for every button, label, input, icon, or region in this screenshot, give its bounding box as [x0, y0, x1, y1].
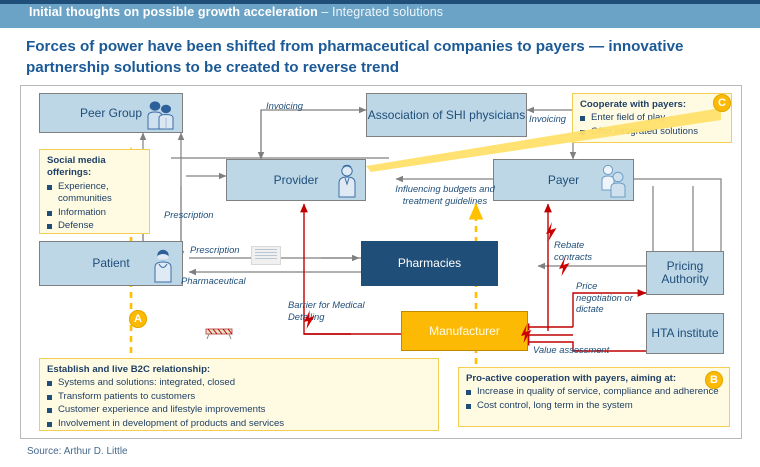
edge-label-price-negotiation: Price negotiation or dictate — [576, 280, 641, 315]
list-item: Increase in quality of service, complian… — [466, 386, 722, 398]
node-pricing-authority[interactable]: Pricing Authority — [646, 251, 724, 295]
edge-label-value-assessment: Value assessment — [533, 344, 609, 356]
node-association-label: Association of SHI physicians — [368, 109, 525, 122]
list-item: Cost control, long term in the system — [466, 400, 722, 412]
list-item: Offer integrated solutions — [580, 126, 724, 138]
list-item: Defense — [47, 220, 142, 232]
callout-social-media-title: Social media offerings: — [47, 155, 142, 180]
callout-proactive-title: Pro-active cooperation with payers, aimi… — [466, 373, 722, 385]
node-provider-label: Provider — [274, 174, 319, 187]
callout-proactive-cooperation[interactable]: Pro-active cooperation with payers, aimi… — [458, 367, 730, 427]
edge-label-prescription-left: Prescription — [164, 209, 214, 221]
header-band: Initial thoughts on possible growth acce… — [0, 0, 760, 28]
header-title: Initial thoughts on possible growth acce… — [29, 5, 443, 19]
list-item: Involvement in development of products a… — [47, 418, 431, 430]
list-item: Transform patients to customers — [47, 391, 431, 403]
doctor-icon — [335, 164, 359, 198]
people-group-icon — [142, 100, 176, 130]
node-hta-institute-label: HTA institute — [651, 327, 718, 340]
node-patient[interactable]: Patient — [39, 241, 183, 286]
list-item: Experience, communities — [47, 181, 142, 206]
list-item: Systems and solutions: integrated, close… — [47, 377, 431, 389]
header-navy-strip — [0, 0, 760, 4]
prescription-paper-icon — [251, 246, 281, 265]
callout-proactive-list: Increase in quality of service, complian… — [466, 386, 722, 412]
badge-c: C — [713, 94, 731, 112]
node-hta-institute[interactable]: HTA institute — [646, 313, 724, 354]
list-item: Customer experience and lifestyle improv… — [47, 404, 431, 416]
node-peer-group-label: Peer Group — [80, 107, 142, 120]
callout-b2c-relationship[interactable]: Establish and live B2C relationship: Sys… — [39, 358, 439, 431]
node-pharmacies-label: Pharmacies — [398, 257, 461, 270]
node-patient-label: Patient — [92, 257, 129, 270]
node-peer-group[interactable]: Peer Group — [39, 93, 183, 133]
node-provider[interactable]: Provider — [226, 159, 366, 201]
node-pharmacies[interactable]: Pharmacies — [361, 241, 498, 286]
node-payer[interactable]: Payer — [493, 159, 634, 201]
edge-label-pharmaceutical: Pharmaceutical — [181, 275, 246, 287]
list-item: Enter field of play — [580, 112, 724, 124]
source-note: Source: Arthur D. Little — [27, 446, 128, 457]
node-manufacturer-label: Manufacturer — [429, 325, 500, 338]
callout-cooperate-with-payers[interactable]: Cooperate with payers: Enter field of pl… — [572, 93, 732, 143]
diagram-frame: Peer Group Association of SHI physicians… — [20, 85, 742, 439]
edge-label-invoicing-left: Invoicing — [266, 100, 303, 112]
page-title: Forces of power have been shifted from p… — [26, 36, 732, 78]
edge-label-rebate: Rebate contracts — [554, 239, 614, 262]
two-persons-icon — [597, 164, 627, 198]
node-association-shi-physicians[interactable]: Association of SHI physicians — [366, 93, 527, 137]
edge-label-invoicing-right: Invoicing — [529, 113, 566, 125]
header-title-bold: Initial thoughts on possible growth acce… — [29, 5, 318, 19]
callout-b2c-list: Systems and solutions: integrated, close… — [47, 377, 431, 430]
person-icon — [150, 247, 176, 283]
badge-b: B — [705, 371, 723, 389]
header-title-rest: – Integrated solutions — [318, 5, 443, 19]
callout-social-media[interactable]: Social media offerings: Experience, comm… — [39, 149, 150, 234]
list-item: Information — [47, 207, 142, 219]
edge-label-barrier: Barrier for Medical Detailing — [288, 299, 378, 322]
node-payer-label: Payer — [548, 174, 579, 187]
callout-cooperate-title: Cooperate with payers: — [580, 99, 724, 111]
edge-label-influencing: Influencing budgets and treatment guidel… — [384, 183, 506, 206]
badge-a: A — [129, 310, 147, 328]
callout-cooperate-list: Enter field of play Offer integrated sol… — [580, 112, 724, 138]
node-pricing-authority-label: Pricing Authority — [647, 260, 723, 286]
edge-label-prescription-right: Prescription — [190, 244, 240, 256]
callout-social-media-list: Experience, communities Information Defe… — [47, 181, 142, 233]
node-manufacturer[interactable]: Manufacturer — [401, 311, 528, 351]
callout-b2c-title: Establish and live B2C relationship: — [47, 364, 431, 376]
